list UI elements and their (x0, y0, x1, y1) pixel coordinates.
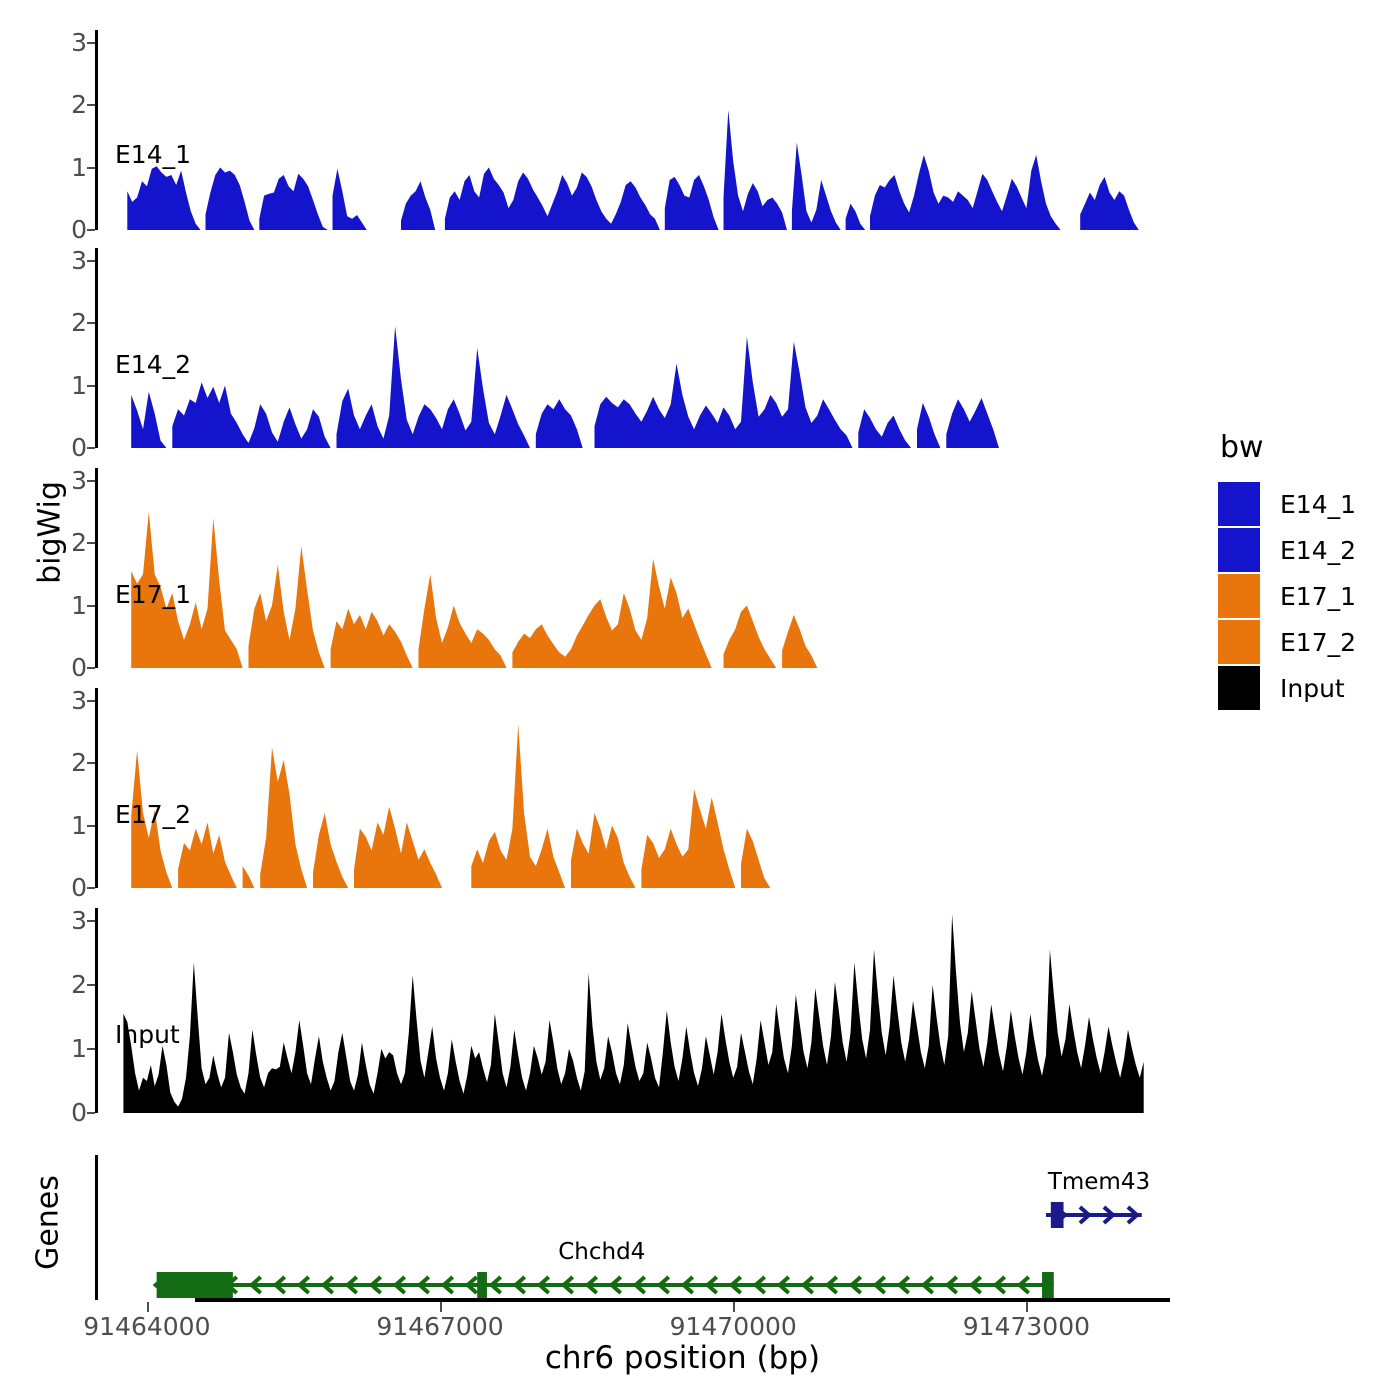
y-tick-mark (87, 229, 95, 231)
y-tick-mark (87, 667, 95, 669)
gene-exon-block (1051, 1202, 1064, 1228)
x-tick-mark (1026, 1302, 1028, 1312)
legend-swatch (1218, 666, 1260, 710)
gene-tmem43[interactable] (1046, 1202, 1142, 1228)
track-label-e14_2: E14_2 (115, 350, 191, 379)
coverage-area-e17_1 (98, 468, 1173, 668)
y-tick-label: 3 (49, 28, 87, 57)
track-panel-e17_2: 0123 (95, 688, 1173, 888)
y-tick-mark (87, 1048, 95, 1050)
track-label-e14_1: E14_1 (115, 140, 191, 169)
legend-label: E14_2 (1280, 536, 1356, 565)
y-tick-label: 2 (49, 970, 87, 999)
y-tick-mark (87, 42, 95, 44)
y-tick-label: 3 (49, 906, 87, 935)
track-label-e17_1: E17_1 (115, 580, 191, 609)
genes-plot-area (98, 1155, 1173, 1300)
y-tick-mark (87, 984, 95, 986)
x-tick-label: 91467000 (340, 1312, 540, 1341)
legend-swatch (1218, 620, 1260, 664)
track-panel-input: 0123 (95, 908, 1173, 1113)
gene-label-chchd4: Chchd4 (558, 1239, 645, 1265)
track-plot-area (98, 468, 1173, 668)
y-tick-mark (87, 762, 95, 764)
x-tick-mark (440, 1302, 442, 1312)
track-panel-e17_1: 0123 (95, 468, 1173, 668)
y-tick-mark (87, 480, 95, 482)
track-label-input: Input (115, 1020, 180, 1049)
legend-item-e17_2[interactable]: E17_2 (1218, 619, 1356, 665)
y-tick-label: 2 (49, 528, 87, 557)
y-tick-mark (87, 700, 95, 702)
y-tick-label: 0 (49, 433, 87, 462)
gene-exon-block (477, 1272, 487, 1298)
y-tick-label: 1 (49, 1034, 87, 1063)
legend-swatch (1218, 528, 1260, 572)
y-tick-mark (87, 104, 95, 106)
gene-exon-block (157, 1272, 233, 1298)
legend-swatch (1218, 482, 1260, 526)
track-plot-area (98, 248, 1173, 448)
y-tick-label: 2 (49, 748, 87, 777)
y-tick-mark (87, 825, 95, 827)
genes-panel (95, 1155, 1173, 1300)
y-tick-mark (87, 322, 95, 324)
gene-label-tmem43: Tmem43 (1048, 1169, 1150, 1195)
coverage-area-e14_2 (98, 248, 1173, 448)
y-tick-mark (87, 920, 95, 922)
y-tick-mark (87, 1112, 95, 1114)
y-tick-mark (87, 447, 95, 449)
x-tick-label: 91470000 (633, 1312, 833, 1341)
y-tick-mark (87, 167, 95, 169)
y-tick-label: 1 (49, 591, 87, 620)
y-tick-mark (87, 887, 95, 889)
legend-title: bw (1220, 430, 1356, 465)
legend-label: E14_1 (1280, 490, 1356, 519)
track-plot-area (98, 908, 1173, 1113)
y-tick-label: 0 (49, 215, 87, 244)
x-tick-label: 91464000 (47, 1312, 247, 1341)
coverage-path (131, 326, 1122, 448)
x-axis-line (195, 1298, 1170, 1302)
coverage-path (123, 914, 1143, 1113)
y-tick-label: 0 (49, 873, 87, 902)
legend-item-input[interactable]: Input (1218, 665, 1356, 711)
y-tick-label: 2 (49, 90, 87, 119)
track-panel-e14_2: 0123 (95, 248, 1173, 448)
coverage-area-input (98, 908, 1173, 1113)
legend-label: E17_2 (1280, 628, 1356, 657)
y-tick-mark (87, 605, 95, 607)
legend-swatch (1218, 574, 1260, 618)
legend-label: Input (1280, 674, 1345, 703)
track-plot-area (98, 688, 1173, 888)
legend: bw E14_1E14_2E17_1E17_2Input (1218, 430, 1356, 711)
x-tick-label: 91473000 (926, 1312, 1126, 1341)
x-axis-label: chr6 position (bp) (195, 1340, 1170, 1376)
track-plot-area (98, 30, 1173, 230)
y-tick-label: 0 (49, 1098, 87, 1127)
coverage-path (131, 512, 1122, 668)
coverage-path (131, 724, 1104, 888)
x-tick-mark (733, 1302, 735, 1312)
x-tick-mark (147, 1302, 149, 1312)
gene-chchd4[interactable] (155, 1272, 1054, 1298)
y-tick-mark (87, 542, 95, 544)
y-tick-label: 1 (49, 811, 87, 840)
legend-item-e14_2[interactable]: E14_2 (1218, 527, 1356, 573)
genes-svg (98, 1155, 1173, 1300)
y-tick-label: 1 (49, 153, 87, 182)
y-tick-label: 3 (49, 466, 87, 495)
y-tick-label: 0 (49, 653, 87, 682)
track-label-e17_2: E17_2 (115, 800, 191, 829)
coverage-area-e14_1 (98, 30, 1173, 230)
y-tick-mark (87, 260, 95, 262)
y-axis-label-genes: Genes (31, 1133, 66, 1313)
y-tick-label: 3 (49, 246, 87, 275)
legend-label: E17_1 (1280, 582, 1356, 611)
y-tick-label: 1 (49, 371, 87, 400)
legend-item-e17_1[interactable]: E17_1 (1218, 573, 1356, 619)
track-panel-e14_1: 0123 (95, 30, 1173, 230)
legend-items: E14_1E14_2E17_1E17_2Input (1218, 481, 1356, 711)
gene-exon-block (1042, 1272, 1054, 1298)
y-tick-label: 2 (49, 308, 87, 337)
y-tick-mark (87, 385, 95, 387)
legend-item-e14_1[interactable]: E14_1 (1218, 481, 1356, 527)
coverage-path (127, 110, 1139, 230)
y-tick-label: 3 (49, 686, 87, 715)
coverage-area-e17_2 (98, 688, 1173, 888)
